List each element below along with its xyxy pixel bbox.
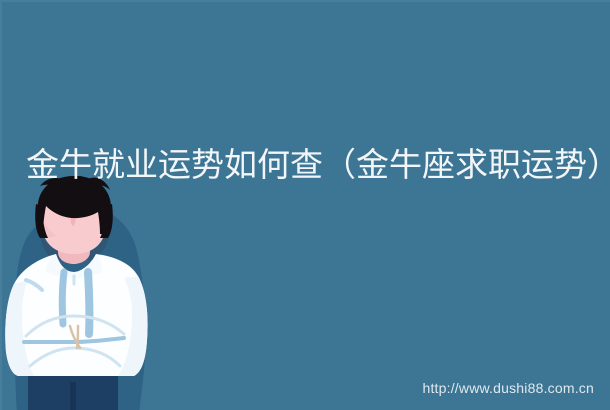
page-title: 金牛就业运势如何查（金牛座求职运势）: [26, 143, 606, 187]
figure-hoodie: [5, 254, 147, 376]
illustration-young-man-in-white-hoodie: [0, 176, 165, 410]
thumbnail-canvas: 金牛就业运势如何查（金牛座求职运势） http://www.dushi88.co…: [0, 0, 610, 410]
source-watermark: http://www.dushi88.com.cn: [422, 380, 594, 396]
